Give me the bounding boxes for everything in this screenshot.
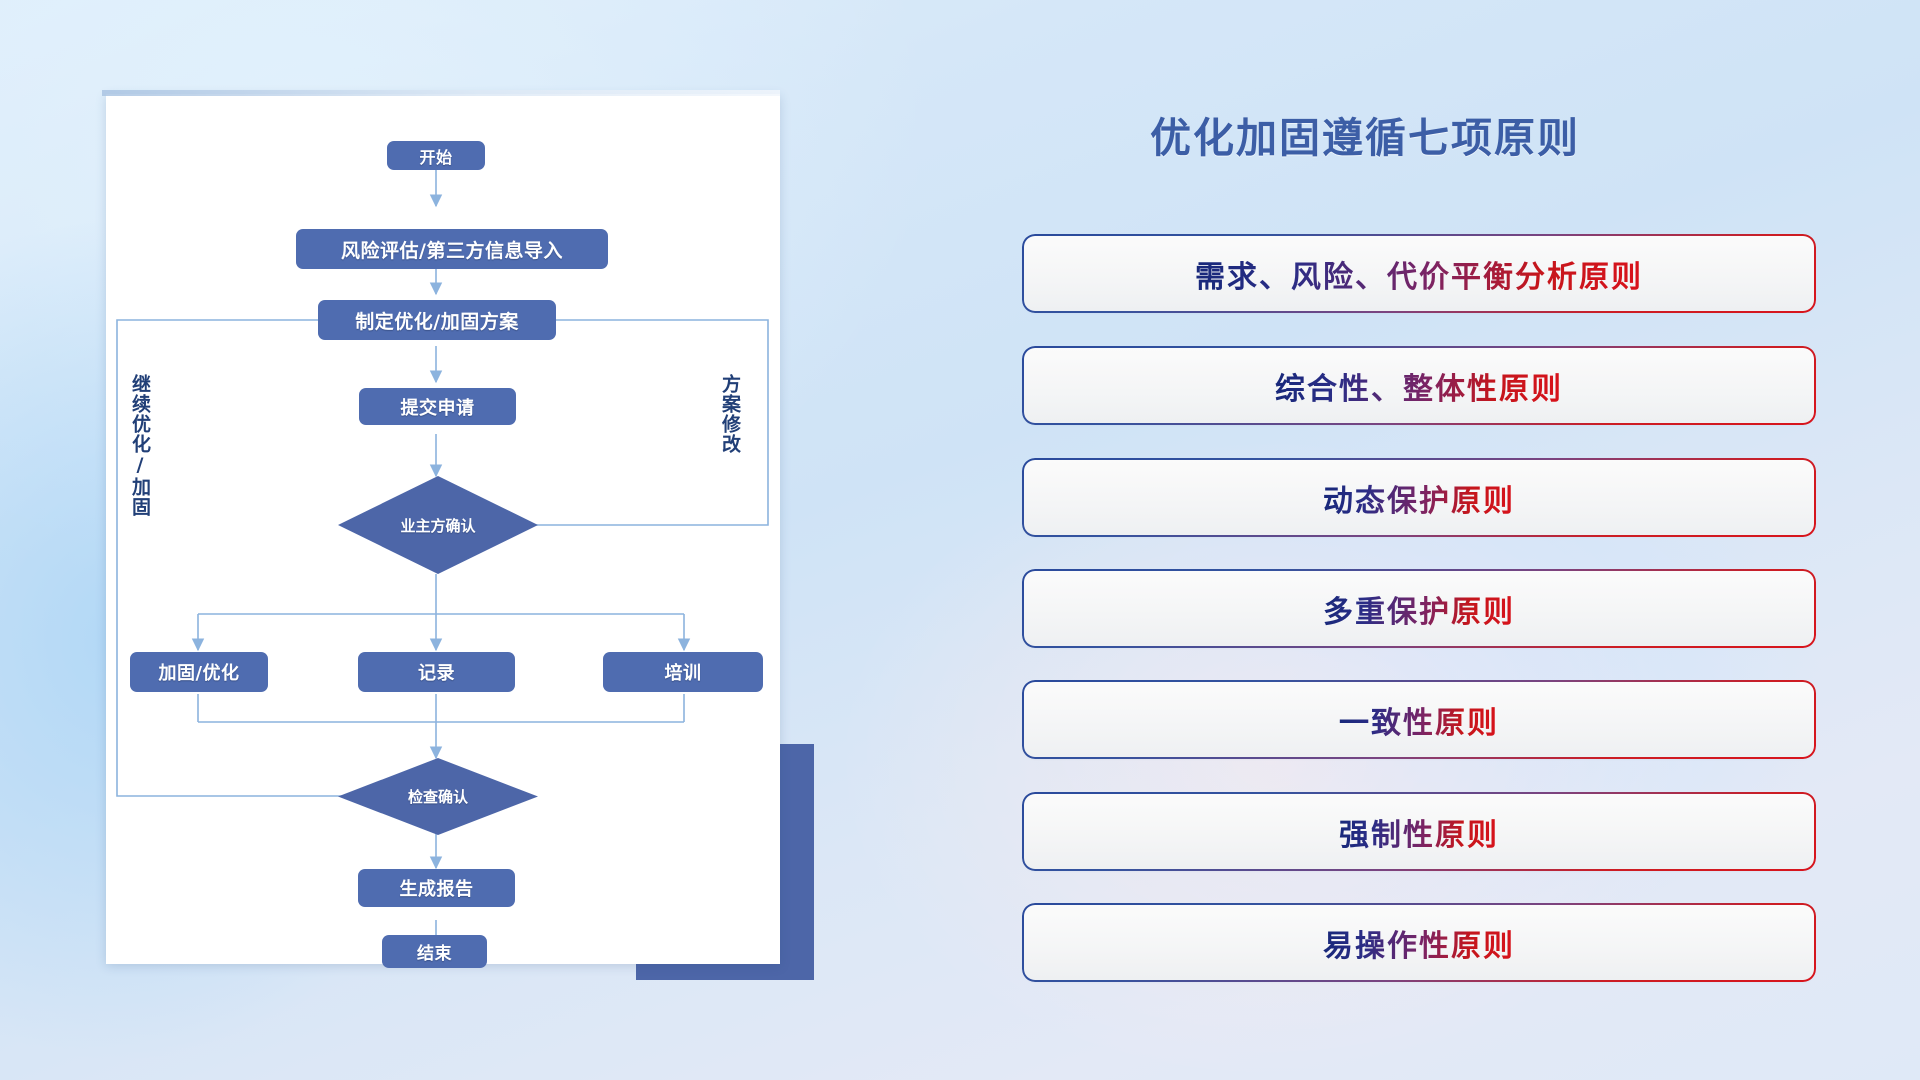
flow-node-label: 培训 <box>665 659 702 685</box>
flow-decision-label: 业主方确认 <box>400 515 475 536</box>
flow-node-label: 制定优化/加固方案 <box>355 307 518 334</box>
flow-node-training[interactable]: 培训 <box>603 652 763 692</box>
principle-card-5[interactable]: 一致性原则 <box>1024 682 1814 757</box>
principle-card-3[interactable]: 动态保护原则 <box>1024 460 1814 535</box>
principle-label: 一致性原则 <box>1339 698 1499 742</box>
principle-label: 易操作性原则 <box>1323 921 1515 965</box>
principles-panel: 优化加固遵循七项原则 需求、风险、代价平衡分析原则 综合性、整体性原则 动态保护… <box>1020 90 1850 1010</box>
flowchart-diagram: 开始 风险评估/第三方信息导入 制定优化/加固方案 提交申请 业主方确认 加固/… <box>106 94 780 964</box>
flow-node-label: 结束 <box>417 939 452 964</box>
flow-node-record[interactable]: 记录 <box>358 652 515 692</box>
principle-card-2[interactable]: 综合性、整体性原则 <box>1024 348 1814 423</box>
flow-edge-label-plan-revision: 方案修改 <box>720 374 739 454</box>
flow-node-end[interactable]: 结束 <box>382 935 487 968</box>
flow-node-label: 风险评估/第三方信息导入 <box>341 236 563 263</box>
principle-label: 动态保护原则 <box>1323 476 1515 520</box>
flow-node-risk-assessment[interactable]: 风险评估/第三方信息导入 <box>296 229 608 269</box>
principle-label: 多重保护原则 <box>1323 587 1515 631</box>
principle-label: 强制性原则 <box>1339 810 1499 854</box>
flow-node-label: 生成报告 <box>400 875 474 901</box>
principle-card-7[interactable]: 易操作性原则 <box>1024 905 1814 980</box>
slide-canvas: 开始 风险评估/第三方信息导入 制定优化/加固方案 提交申请 业主方确认 加固/… <box>0 0 1920 1080</box>
flow-node-label: 记录 <box>418 659 455 685</box>
flow-node-start[interactable]: 开始 <box>387 141 485 170</box>
principle-label: 需求、风险、代价平衡分析原则 <box>1195 252 1643 296</box>
principle-card-6[interactable]: 强制性原则 <box>1024 794 1814 869</box>
principle-card-4[interactable]: 多重保护原则 <box>1024 571 1814 646</box>
flow-node-submit-application[interactable]: 提交申请 <box>359 388 516 425</box>
flowchart-card: 开始 风险评估/第三方信息导入 制定优化/加固方案 提交申请 业主方确认 加固/… <box>106 94 780 964</box>
flow-node-label: 提交申请 <box>401 394 475 420</box>
flow-node-generate-report[interactable]: 生成报告 <box>358 869 515 907</box>
principle-label: 综合性、整体性原则 <box>1275 364 1563 408</box>
flow-node-plan[interactable]: 制定优化/加固方案 <box>318 300 556 340</box>
principle-card-1[interactable]: 需求、风险、代价平衡分析原则 <box>1024 236 1814 311</box>
flow-node-label: 加固/优化 <box>158 659 239 685</box>
flow-decision-label: 检查确认 <box>408 786 468 807</box>
flow-node-label: 开始 <box>419 144 452 168</box>
panel-title: 优化加固遵循七项原则 <box>1150 104 1580 164</box>
flow-node-reinforce-optimize[interactable]: 加固/优化 <box>130 652 268 692</box>
flow-edge-label-continue-optimize: 继续优化/加固 <box>130 374 149 517</box>
